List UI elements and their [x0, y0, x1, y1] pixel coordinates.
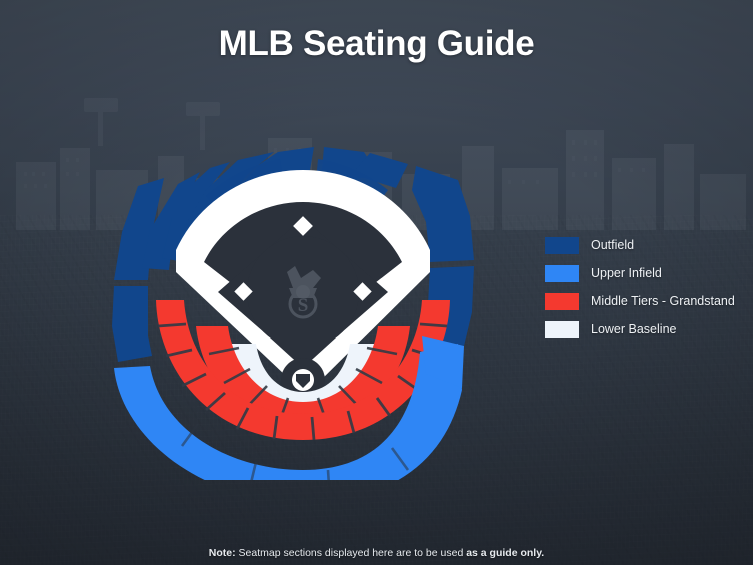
legend-label-outfield: Outfield	[591, 238, 634, 252]
legend-item-lower-baseline[interactable]: Lower Baseline	[545, 315, 745, 343]
stadium-seatmap: S	[78, 140, 528, 480]
svg-text:S: S	[298, 295, 309, 316]
swatch-lower-baseline	[545, 321, 579, 338]
footer-note: Note: Seatmap sections displayed here ar…	[0, 547, 753, 559]
seating-guide-page: MLB Seating Guide	[0, 0, 753, 565]
footer-note-text: Seatmap sections displayed here are to b…	[236, 547, 467, 559]
legend-label-lower-baseline: Lower Baseline	[591, 322, 676, 336]
swatch-middle-tiers	[545, 293, 579, 310]
legend-label-upper-infield: Upper Infield	[591, 266, 662, 280]
footer-note-prefix: Note:	[209, 547, 236, 559]
swatch-upper-infield	[545, 265, 579, 282]
legend-item-upper-infield[interactable]: Upper Infield	[545, 259, 745, 287]
legend: Outfield Upper Infield Middle Tiers - Gr…	[545, 231, 745, 343]
footer-note-suffix: as a guide only.	[466, 547, 544, 559]
legend-label-middle-tiers: Middle Tiers - Grandstand	[591, 294, 735, 308]
legend-item-outfield[interactable]: Outfield	[545, 231, 745, 259]
page-title: MLB Seating Guide	[0, 24, 753, 64]
legend-item-middle-tiers[interactable]: Middle Tiers - Grandstand	[545, 287, 745, 315]
swatch-outfield	[545, 237, 579, 254]
